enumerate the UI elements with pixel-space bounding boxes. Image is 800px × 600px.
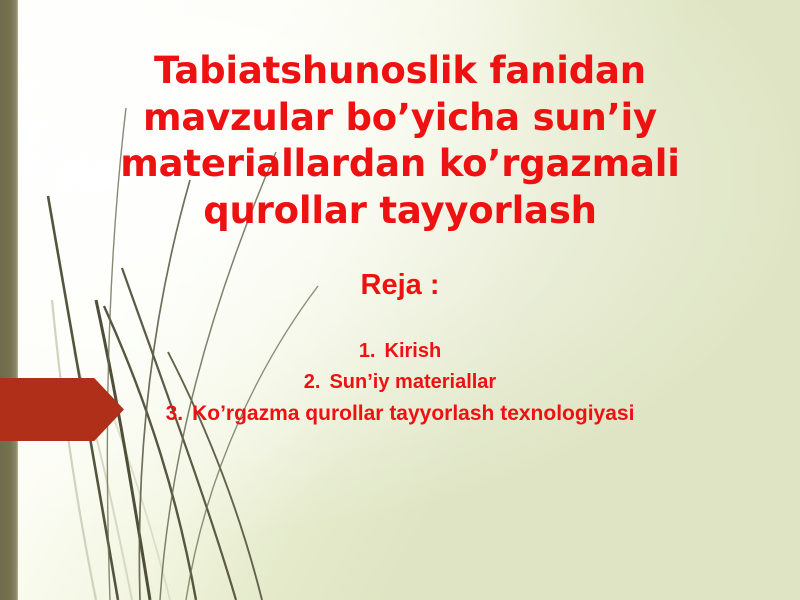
- list-item-number: 3.: [166, 402, 184, 425]
- list-item: 1.Kirish: [0, 336, 800, 367]
- list-item-number: 2.: [304, 371, 321, 393]
- slide-title: Tabiatshunoslik fanidan mavzular bo’yich…: [100, 48, 700, 234]
- list-item: 2.Sun’iy materiallar: [0, 367, 800, 398]
- list-item-label: Ko’rgazma qurollar tayyorlash texnologiy…: [192, 402, 634, 425]
- plan-list: 1.Kirish 2.Sun’iy materiallar 3.Ko’rgazm…: [0, 336, 800, 431]
- slide: Tabiatshunoslik fanidan mavzular bo’yich…: [0, 0, 800, 600]
- list-item-label: Sun’iy materiallar: [329, 371, 496, 393]
- list-item-label: Kirish: [385, 340, 442, 362]
- section-heading: Reja :: [100, 268, 700, 303]
- list-item-number: 1.: [359, 340, 376, 362]
- slide-content: Tabiatshunoslik fanidan mavzular bo’yich…: [0, 0, 800, 600]
- list-item: 3.Ko’rgazma qurollar tayyorlash texnolog…: [0, 398, 800, 431]
